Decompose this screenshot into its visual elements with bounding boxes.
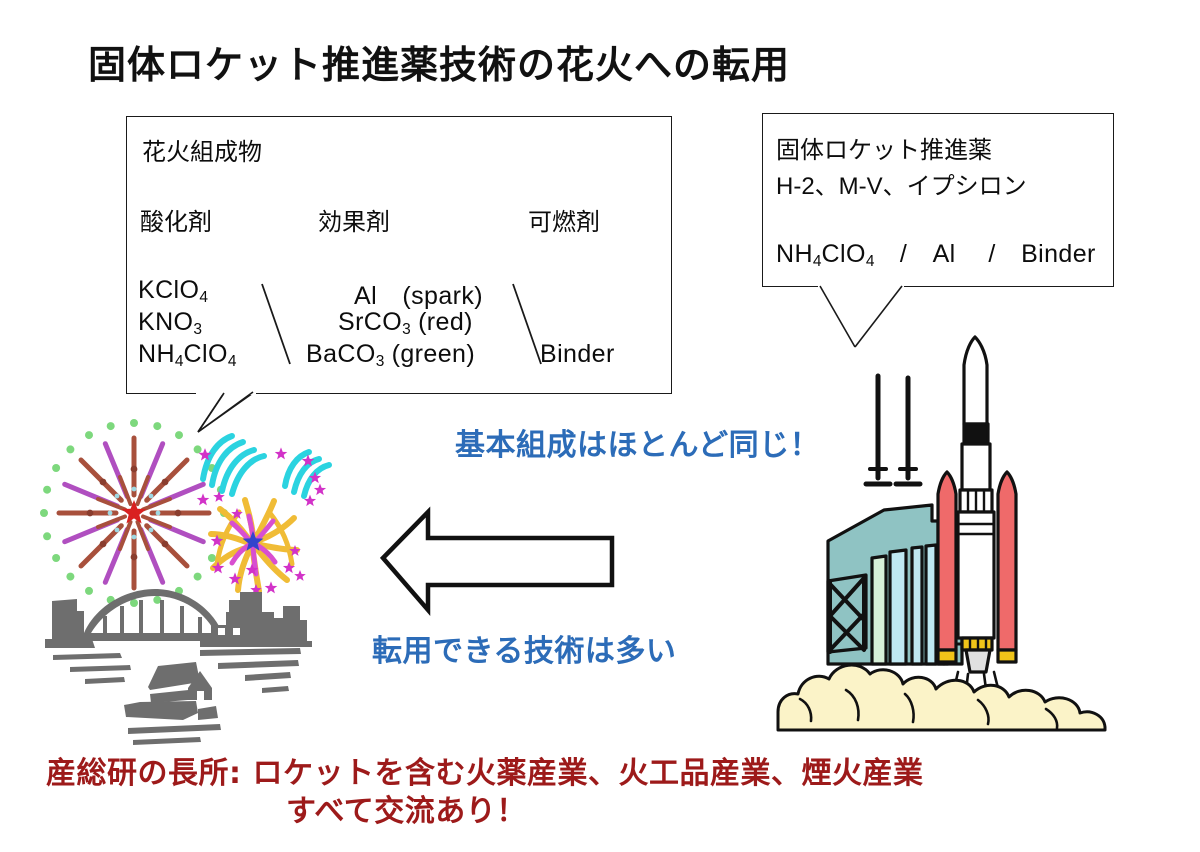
fireworks-box-heading: 花火組成物 (142, 132, 262, 167)
effect-row-1: Al (spark) (354, 276, 483, 312)
column-header-fuel: 可燃剤 (528, 202, 600, 237)
rocket-box-tail (818, 284, 904, 347)
left-arrow (383, 512, 612, 610)
footer-line-2: すべて交流あり！ (286, 786, 527, 830)
fireworks-illustration (40, 419, 329, 745)
annotation-many-technologies: 転用できる技術は多い (372, 626, 676, 670)
exhaust-clouds (778, 665, 1105, 730)
oxidizer-row-2: KNO3 (138, 308, 202, 339)
page-title: 固体ロケット推進薬技術の花火への転用 (88, 34, 790, 89)
radial-burst-firework (40, 419, 228, 607)
rocket-body (958, 337, 994, 672)
rocket-vehicles: H-2、M-V、イプシロン (776, 166, 1027, 201)
rocket-composition: NH4ClO4 / Al / Binder (776, 234, 1096, 271)
rocket-launch-illustration (778, 337, 1105, 730)
rocket-box-heading: 固体ロケット推進薬 (776, 130, 992, 165)
column-header-oxidizer: 酸化剤 (140, 202, 212, 237)
column-header-effect: 効果剤 (318, 202, 390, 237)
effect-row-2: SrCO3 (red) (338, 308, 473, 339)
oxidizer-row-3: NH4ClO4 (138, 340, 236, 371)
fuel-binder: Binder (540, 340, 615, 369)
city-skyline-silhouette (45, 589, 312, 648)
annotation-same-composition: 基本組成はほとんど同じ！ (455, 420, 820, 464)
gold-burst-firework (211, 500, 297, 591)
slide-canvas: 固体ロケット推進薬技術の花火への転用 花火組成物 酸化剤 効果剤 可燃剤 KCl… (0, 0, 1200, 852)
fireworks-box-tail (195, 392, 256, 433)
boat-illustration (124, 662, 221, 745)
effect-row-3: BaCO3 (green) (306, 340, 475, 371)
oxidizer-row-1: KClO4 (138, 276, 208, 307)
